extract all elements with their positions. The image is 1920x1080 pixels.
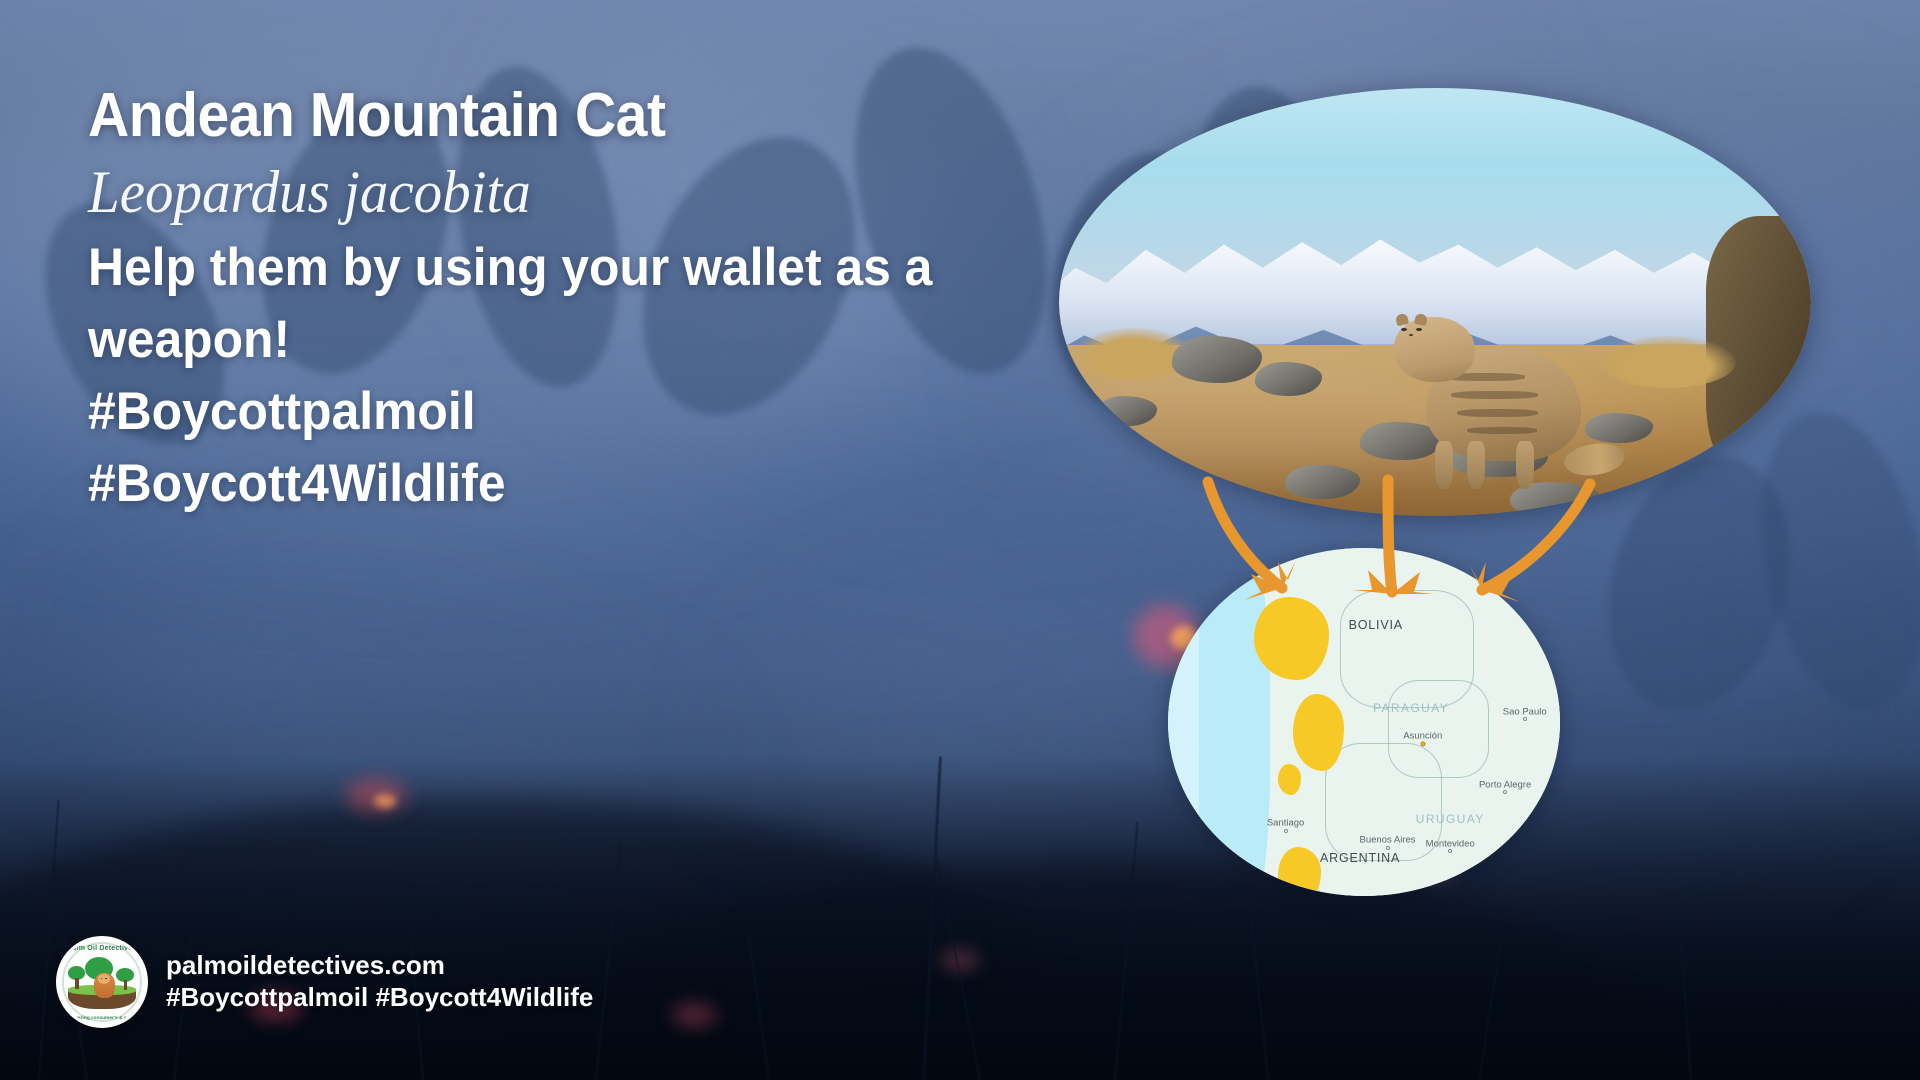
footer-hashtags: #Boycottpalmoil #Boycott4Wildlife (166, 982, 593, 1014)
map-city-dot (1284, 829, 1288, 833)
species-photo-circle (1059, 88, 1811, 516)
orangutan-face (98, 974, 111, 984)
photo-sky (1059, 88, 1811, 285)
hashtag-secondary: #Boycott4Wildlife (88, 448, 1009, 520)
rock-cliff (1706, 216, 1811, 464)
map-city-dot (1503, 790, 1507, 794)
map-city-dot (1448, 849, 1452, 853)
habitat-range (1278, 847, 1321, 896)
cat-eye (1401, 328, 1407, 331)
cat-eye (1416, 328, 1422, 331)
arrow-right-shaft (1482, 484, 1590, 590)
orangutan-eye (105, 978, 107, 979)
logo-top-text: Palm Oil Detectives (59, 945, 145, 952)
footer-branding: Palm Oil Detectives Empowering consumer'… (56, 936, 593, 1028)
orangutan-icon (94, 973, 115, 998)
cat-head (1394, 317, 1475, 382)
page-title: Andean Mountain Cat (88, 84, 990, 147)
habitat-range (1278, 764, 1302, 795)
palm-oil-detectives-logo[interactable]: Palm Oil Detectives Empowering consumer'… (56, 936, 148, 1028)
cat-ear (1395, 312, 1409, 326)
habitat-range (1293, 694, 1344, 771)
hashtag-primary: #Boycottpalmoil (88, 376, 1009, 448)
arrows-svg (1130, 470, 1650, 630)
map-city-dot (1420, 741, 1425, 746)
fire-glow (346, 778, 406, 812)
andean-mountain-cat-photo (1059, 88, 1811, 516)
arrow-left-shaft (1208, 482, 1282, 588)
burnt-ground (0, 756, 1920, 1080)
arrow-center-shaft (1388, 480, 1392, 592)
footer-text: palmoildetectives.com #Boycottpalmoil #B… (166, 950, 593, 1013)
poster-text-block: Andean Mountain Cat Leopardus jacobita H… (88, 84, 1068, 521)
cat-ear (1414, 313, 1428, 326)
map-city-dot (1386, 846, 1390, 850)
arrow-center-head2 (1392, 572, 1434, 594)
logo-illustration (67, 957, 137, 1009)
logo-tree-trunk (75, 978, 79, 989)
cat-nose (1409, 334, 1414, 337)
rock (1097, 396, 1157, 426)
logo-bottom-text: Empowering consumer's & creators (59, 1015, 145, 1020)
scientific-name: Leopardus jacobita (88, 161, 1019, 224)
orangutan-eye (101, 978, 103, 979)
map-city-dot (1523, 717, 1527, 721)
andean-mountain-cat (1390, 311, 1593, 482)
call-to-action: Help them by using your wallet as a weap… (88, 232, 990, 376)
scrub-grass (1600, 336, 1735, 387)
fire-glow (374, 794, 396, 808)
logo-tree-trunk (124, 980, 128, 990)
website-url[interactable]: palmoildetectives.com (166, 950, 593, 982)
range-arrows (1130, 470, 1650, 630)
